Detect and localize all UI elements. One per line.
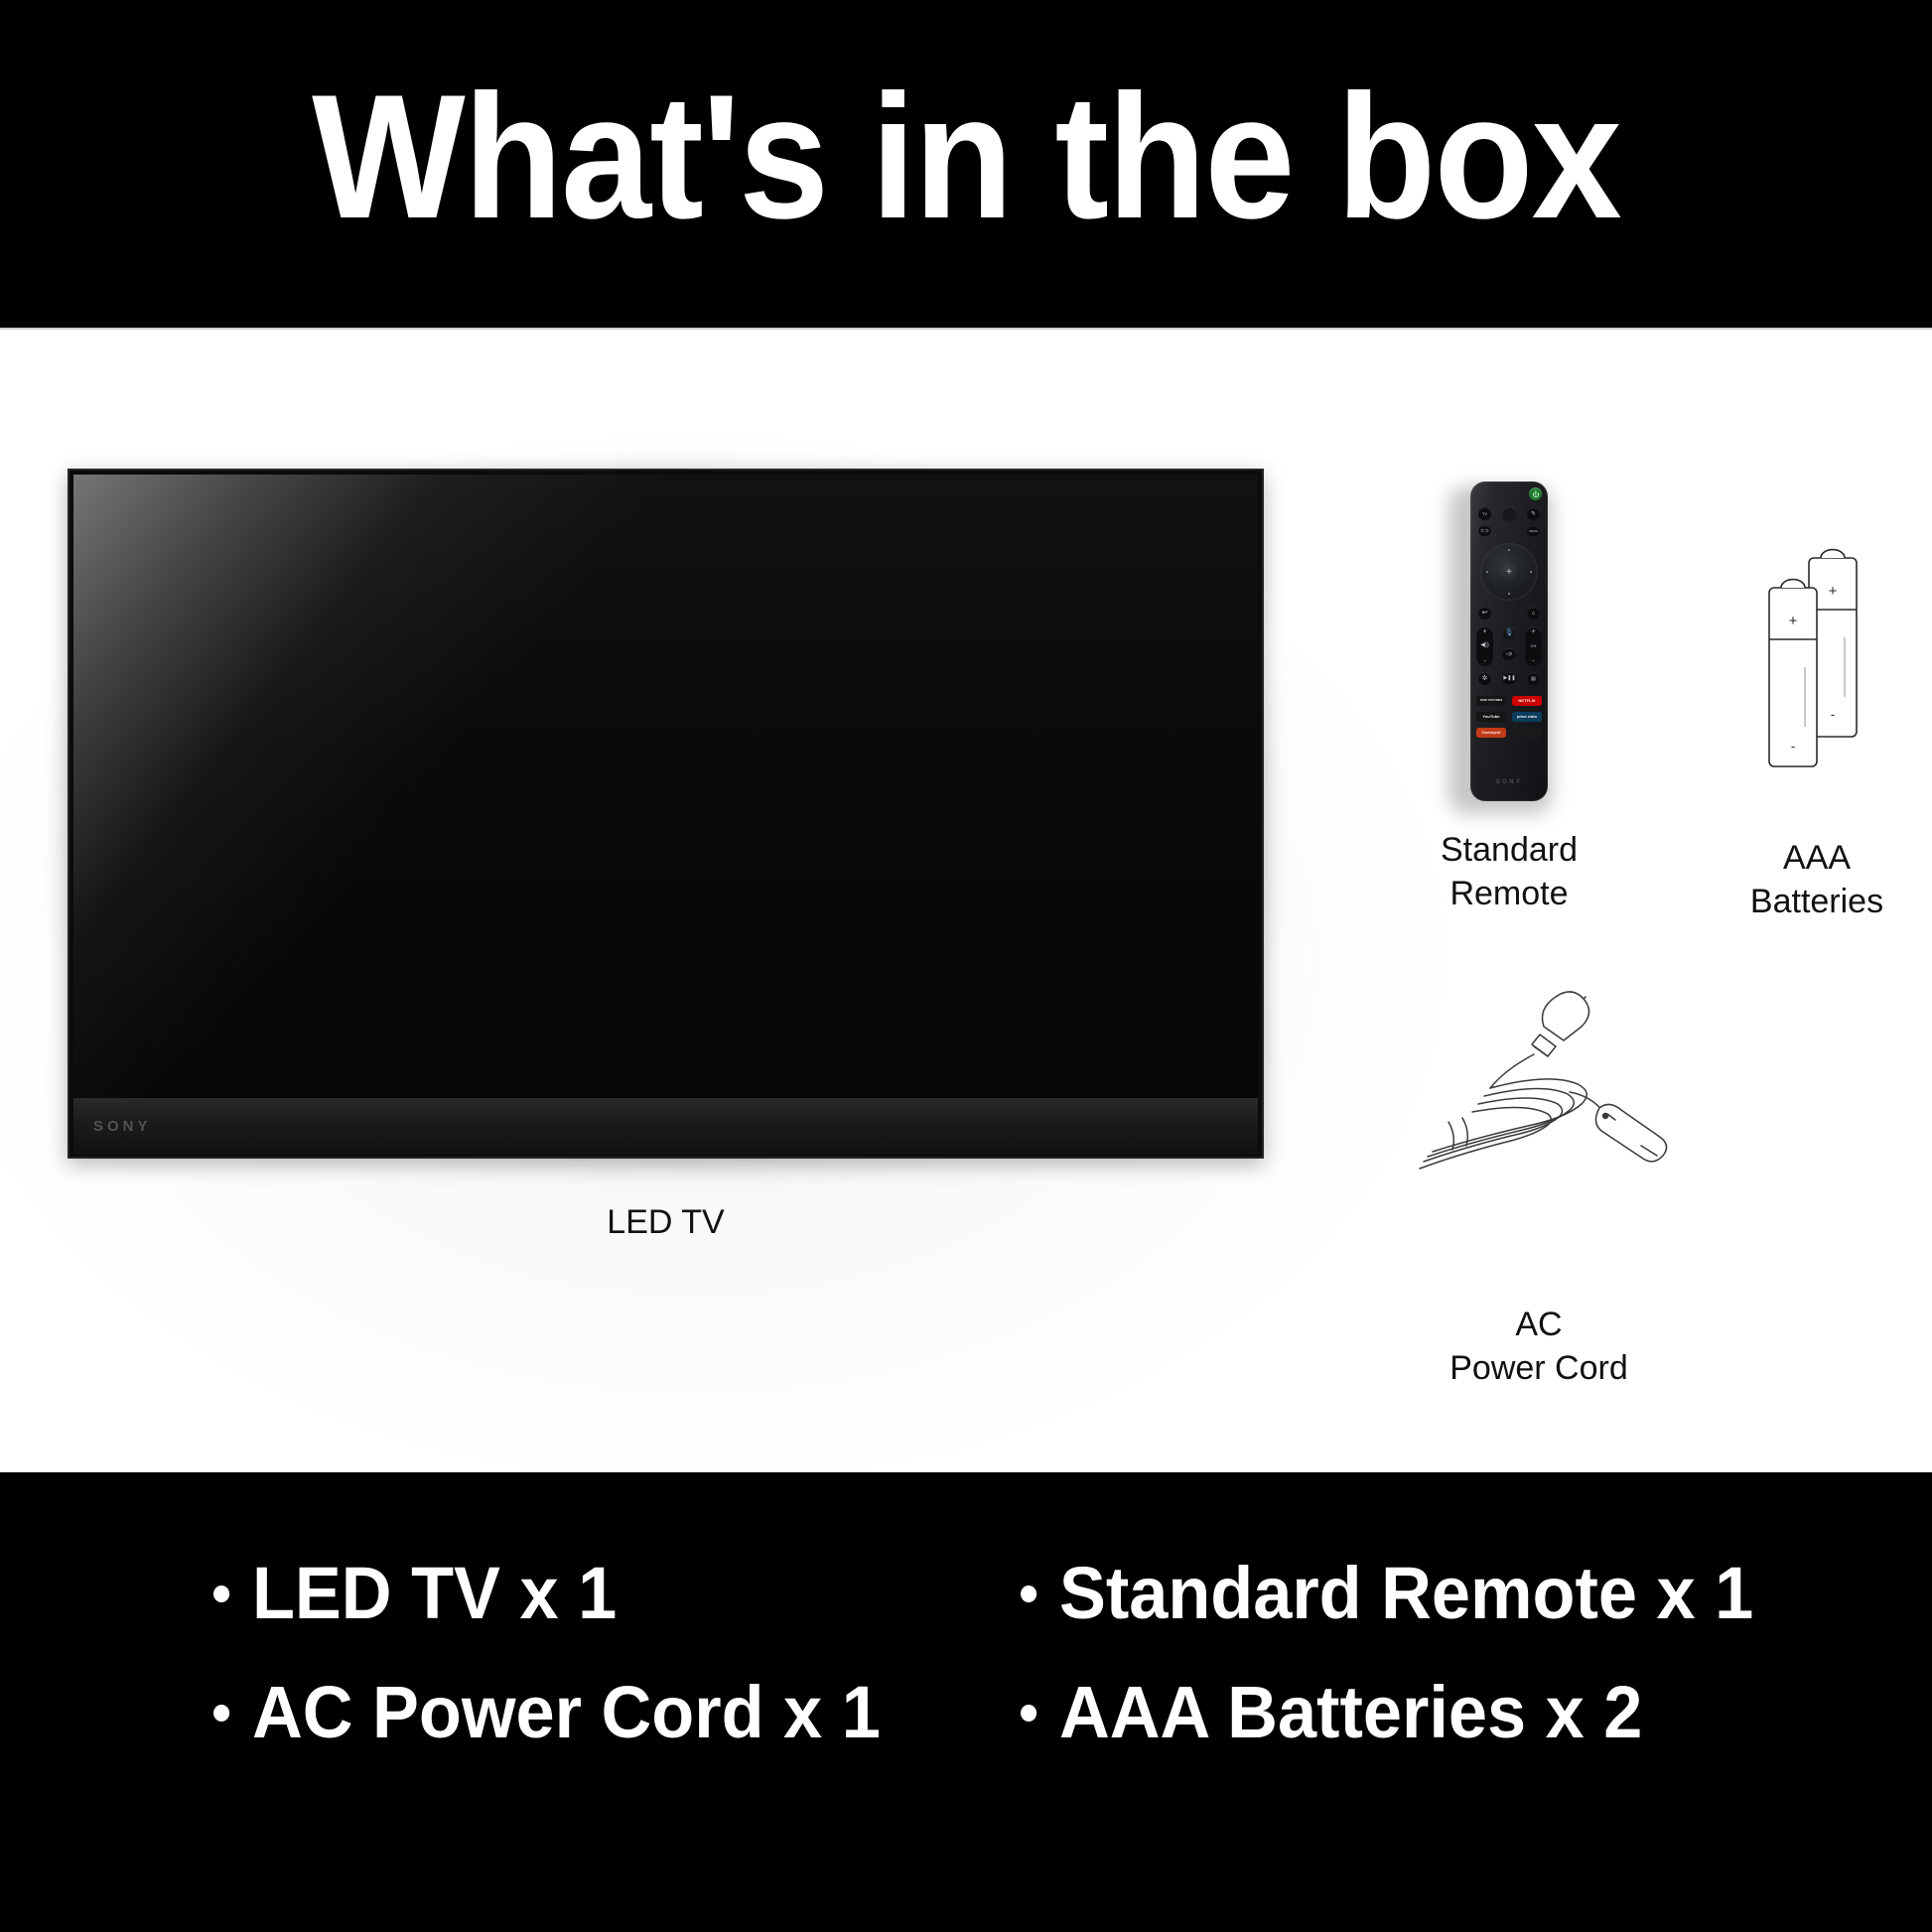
dpad-left-indicator	[1486, 571, 1488, 573]
aaa-batteries-caption: AAA Batteries	[1718, 836, 1916, 923]
back-button[interactable]: ↩	[1478, 607, 1491, 620]
assistant-mic-button[interactable]: 🎙	[1502, 626, 1516, 640]
led-tv-caption: LED TV	[68, 1203, 1264, 1242]
settings-button[interactable]: ✲	[1478, 672, 1491, 685]
netflix-button[interactable]: NETFLIX	[1512, 696, 1542, 706]
standard-remote-illustration: TV ✎ ⊂⊃ MENU	[1445, 479, 1574, 1035]
tv-button[interactable]: TV	[1478, 507, 1491, 520]
battery-minus-mark: -	[1791, 739, 1795, 754]
contents-list: LED TV x 1 AC Power Cord x 1 Standard Re…	[0, 1534, 1932, 1772]
input-button[interactable]: ⊂⊃	[1478, 525, 1491, 536]
dpad-up-indicator	[1508, 549, 1510, 551]
sony-pictures-core-button[interactable]: SONY PICTURES CORE	[1476, 696, 1506, 706]
tv-body: SONY	[68, 469, 1264, 1159]
page-title: What's in the box	[77, 58, 1855, 256]
power-cord-icon	[1385, 965, 1693, 1283]
product-stage: SONY LED TV TV ✎ ⊂⊃	[0, 330, 1932, 1472]
mute-button[interactable]: ◁x	[1502, 648, 1516, 660]
bullet-dot-icon	[213, 1586, 229, 1602]
dpad-down-indicator	[1508, 593, 1510, 595]
prime-video-button[interactable]: prime video	[1512, 712, 1542, 722]
channel-rocker[interactable]: + CH -	[1525, 626, 1542, 666]
tv-bottom-bezel	[73, 1098, 1258, 1155]
microphone-button[interactable]	[1502, 506, 1517, 521]
play-pause-button[interactable]: ▶❚❚	[1502, 672, 1517, 684]
whats-in-the-box-graphic: What's in the box SONY LED TV TV	[0, 0, 1932, 1932]
power-button-icon[interactable]	[1529, 487, 1542, 500]
list-item-label: AAA Batteries x 2	[1059, 1653, 1642, 1772]
app-shortcut-button[interactable]	[1512, 728, 1542, 738]
voice-search-button[interactable]: ✎	[1527, 507, 1540, 520]
bullet-dot-icon	[1021, 1705, 1036, 1722]
led-tv-illustration: SONY	[68, 469, 1264, 1159]
bullet-dot-icon	[1021, 1586, 1036, 1602]
dpad-center-button[interactable]	[1498, 561, 1521, 584]
guide-button[interactable]: ▤	[1527, 672, 1540, 685]
battery-minus-mark: -	[1831, 707, 1835, 722]
crunchyroll-button[interactable]: Crunchyroll	[1476, 728, 1506, 738]
volume-rocker[interactable]: + ◀)) -	[1476, 626, 1493, 666]
contents-column-left: LED TV x 1 AC Power Cord x 1	[0, 1534, 966, 1772]
remote-sony-logo: SONY	[1470, 779, 1548, 785]
ac-power-cord-caption: AC Power Cord	[1385, 1303, 1693, 1390]
list-item-label: Standard Remote x 1	[1059, 1534, 1753, 1653]
list-item-label: AC Power Cord x 1	[252, 1653, 881, 1772]
tv-screen	[73, 475, 1258, 1098]
home-button[interactable]: ⌂	[1527, 607, 1540, 620]
menu-button[interactable]: MENU	[1527, 525, 1540, 536]
footer-band: LED TV x 1 AC Power Cord x 1 Standard Re…	[0, 1472, 1932, 1932]
remote-body: TV ✎ ⊂⊃ MENU	[1470, 482, 1548, 801]
list-item-label: LED TV x 1	[252, 1534, 617, 1653]
list-item: LED TV x 1	[213, 1534, 928, 1653]
youtube-button[interactable]: YouTube	[1476, 712, 1506, 722]
list-item: AAA Batteries x 2	[1021, 1653, 1886, 1772]
aaa-batteries-illustration: + + - - AAA Batteries	[1718, 518, 1916, 1035]
header-band: What's in the box	[0, 0, 1932, 328]
tv-sony-logo: SONY	[93, 1118, 152, 1135]
contents-column-right: Standard Remote x 1 AAA Batteries x 2	[966, 1534, 1932, 1772]
ac-power-cord-illustration: AC Power Cord	[1385, 965, 1693, 1432]
battery-plus-mark: +	[1789, 613, 1798, 629]
standard-remote-caption: Standard Remote	[1415, 828, 1603, 915]
list-item: Standard Remote x 1	[1021, 1534, 1886, 1653]
dpad[interactable]	[1480, 543, 1538, 601]
list-item: AC Power Cord x 1	[213, 1653, 928, 1772]
bullet-dot-icon	[213, 1705, 229, 1722]
dpad-right-indicator	[1530, 571, 1532, 573]
battery-plus-mark: +	[1829, 583, 1838, 600]
battery-icon: + + - -	[1718, 518, 1916, 816]
